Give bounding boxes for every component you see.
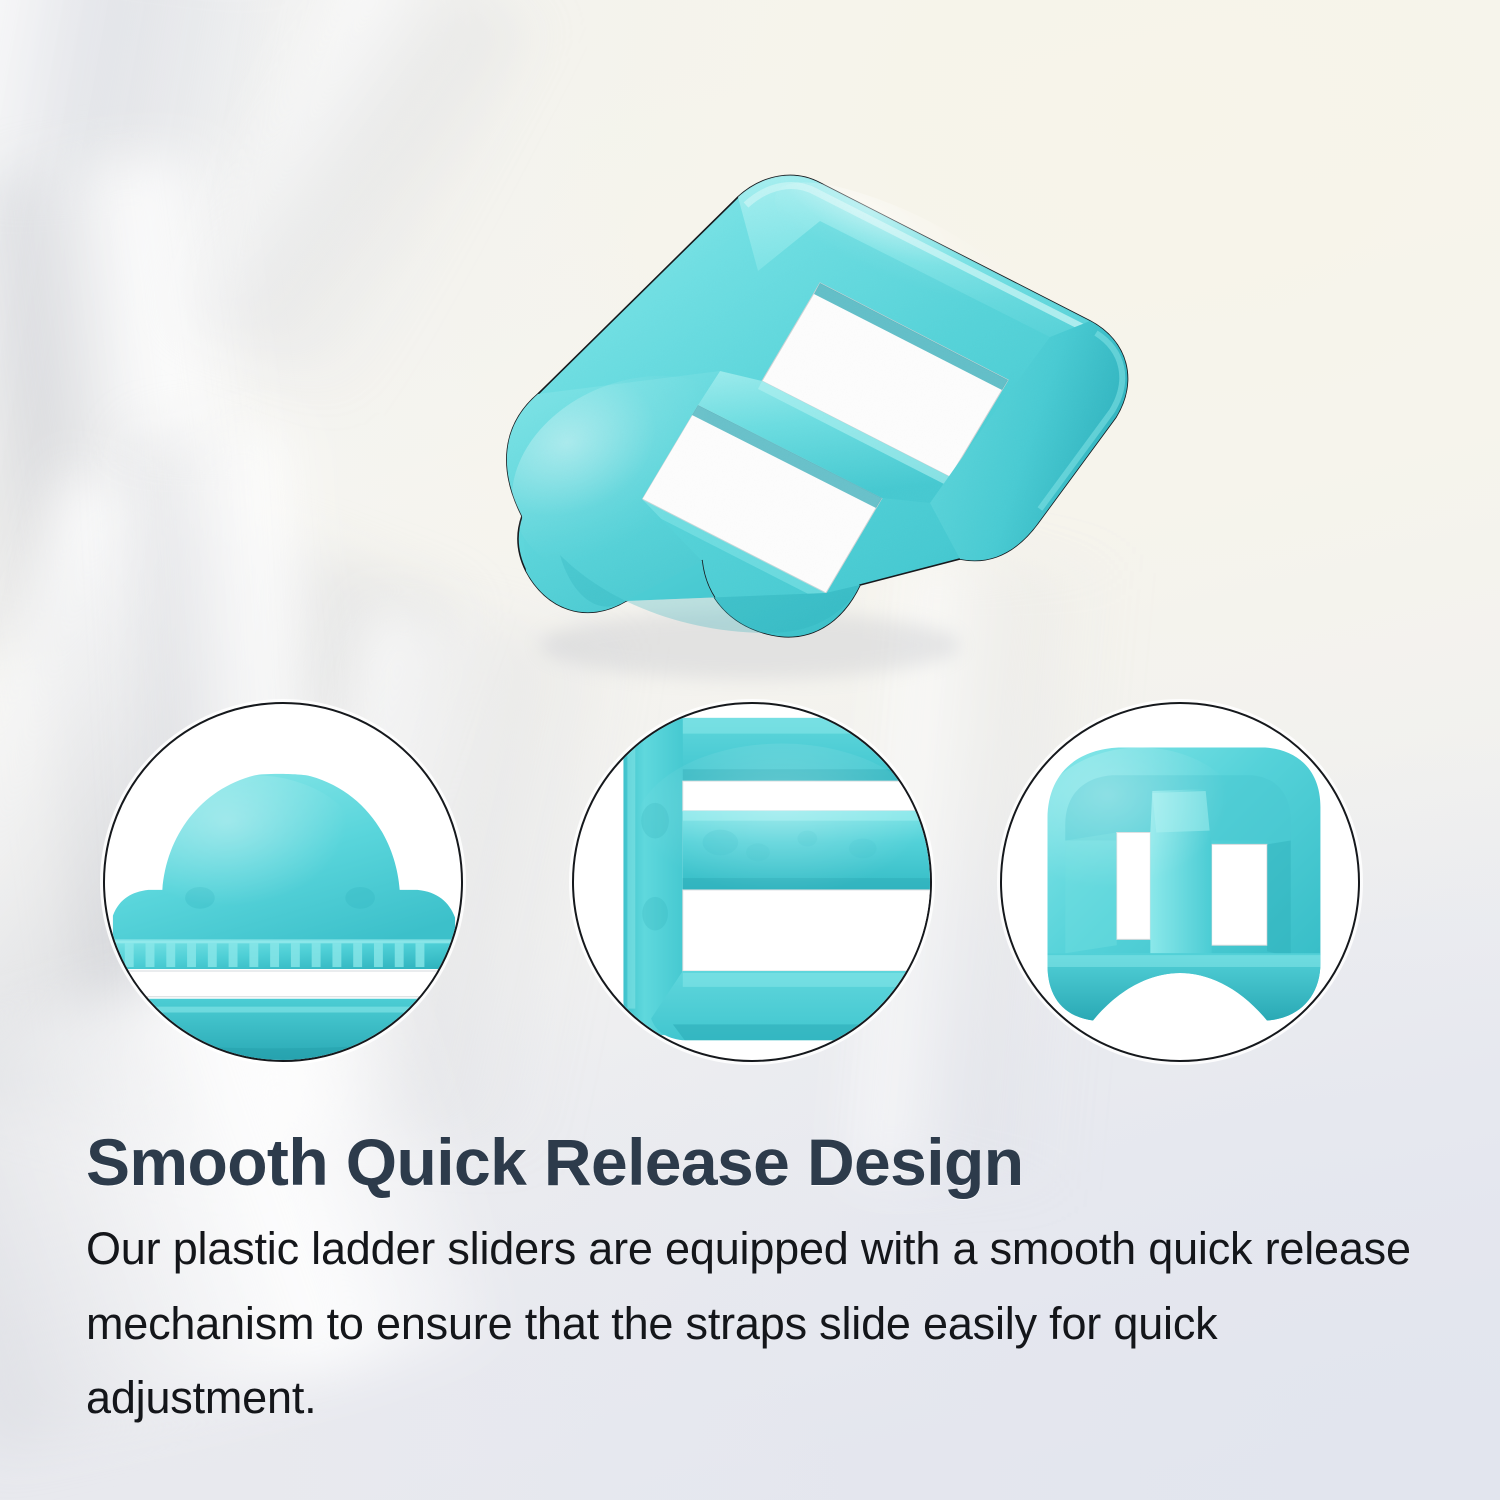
frame-wall-shadow (1267, 840, 1291, 957)
lower-body-highlight (105, 1007, 461, 1013)
page-title: Smooth Quick Release Design (86, 1128, 1416, 1198)
body-paragraph: Our plastic ladder sliders are equipped … (86, 1212, 1416, 1436)
detail-inset-front-face (103, 702, 463, 1062)
plastic-gloss (633, 744, 930, 922)
detail-inset-slot-bars (572, 702, 932, 1062)
plastic-gloss (145, 775, 363, 929)
plastic-gloss (1032, 748, 1250, 918)
plastic-texture (507, 175, 1128, 636)
hero-product-image (390, 85, 1160, 685)
webbing-slot (105, 971, 461, 997)
mould-mark (642, 897, 668, 931)
detail-inset-side-profile (1000, 702, 1360, 1062)
copy-block: Smooth Quick Release Design Our plastic … (86, 1128, 1416, 1436)
bottom-bar-highlight (683, 973, 930, 987)
grip-teeth-row (113, 939, 455, 969)
base-highlight (1047, 955, 1320, 967)
mould-dimple (345, 887, 375, 909)
bottom-bar-shadow (673, 1024, 930, 1040)
product-infographic: Smooth Quick Release Design Our plastic … (0, 0, 1500, 1500)
